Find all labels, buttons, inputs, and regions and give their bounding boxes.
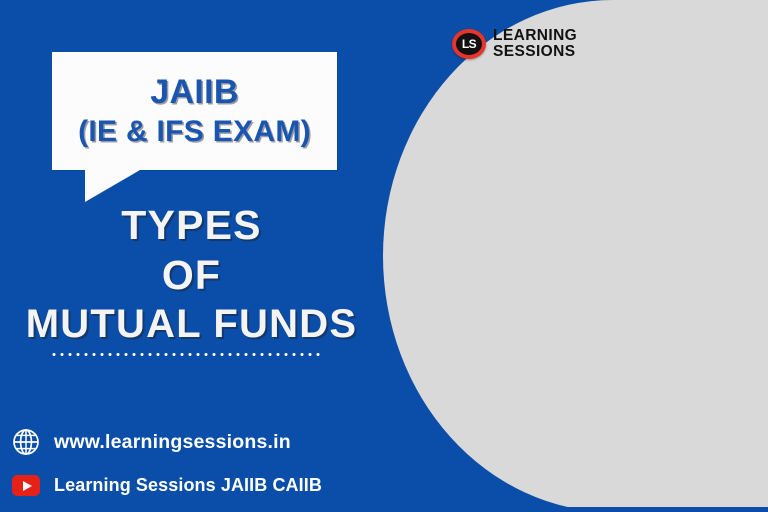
- globe-icon: [12, 428, 40, 456]
- brand-logo: LS LEARNING SESSIONS: [452, 28, 577, 60]
- title-line-1: TYPES: [0, 200, 383, 250]
- page-title: TYPES OF MUTUAL FUNDS: [0, 200, 383, 349]
- youtube-channel-label: Learning Sessions JAIIB CAIIB: [54, 475, 322, 496]
- logo-wordmark-line2: SESSIONS: [493, 44, 577, 60]
- bubble-tail: [85, 170, 140, 202]
- thumbnail-canvas: LS LEARNING SESSIONS JAIIB (IE & IFS EXA…: [0, 0, 768, 512]
- website-row[interactable]: www.learningsessions.in: [12, 428, 291, 456]
- logo-wordmark: LEARNING SESSIONS: [493, 28, 577, 60]
- title-dotted-underline: [50, 352, 322, 357]
- bubble-line-2: (IE & IFS EXAM): [78, 115, 311, 149]
- title-line-3: MUTUAL FUNDS: [0, 300, 383, 349]
- website-label: www.learningsessions.in: [54, 431, 291, 454]
- logo-wordmark-line1: LEARNING: [493, 28, 577, 44]
- ls-logo-icon: LS: [452, 29, 486, 59]
- right-image-panel: [383, 0, 768, 512]
- title-line-2: OF: [0, 250, 383, 300]
- youtube-icon: [12, 475, 40, 496]
- panel-bottom-strip: [383, 507, 768, 512]
- logo-mark-text: LS: [462, 38, 476, 50]
- bubble-line-1: JAIIB: [150, 73, 238, 111]
- youtube-channel-row[interactable]: Learning Sessions JAIIB CAIIB: [12, 475, 322, 496]
- exam-callout-bubble: JAIIB (IE & IFS EXAM): [52, 52, 337, 170]
